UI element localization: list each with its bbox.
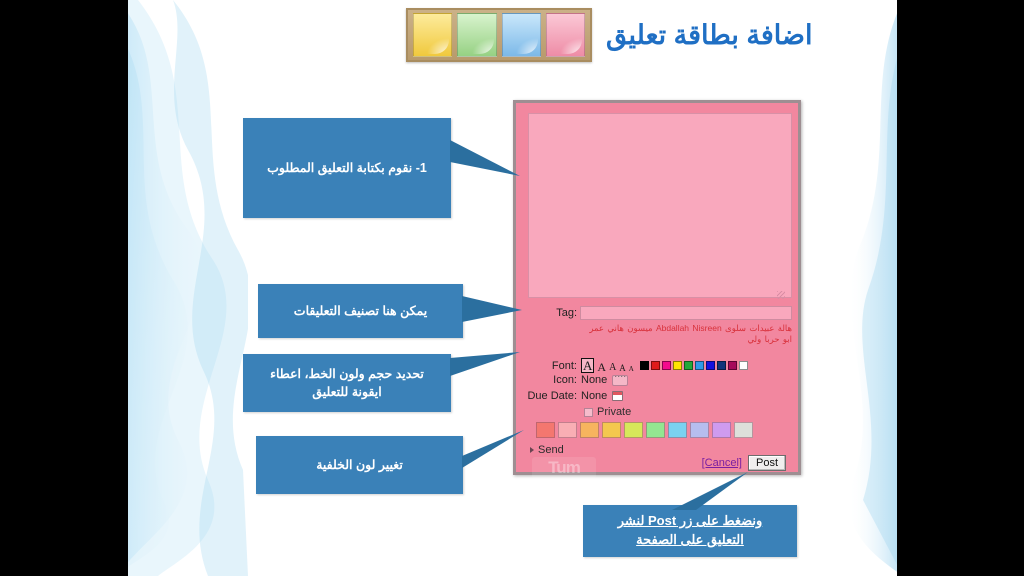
- font-label: Font:: [520, 360, 580, 372]
- presentation-slide: اضافة بطاقة تعليق Tag: هالة عبيدات سلوى …: [128, 0, 897, 576]
- sticky-note-green: [457, 13, 496, 57]
- private-label: Private: [597, 406, 631, 418]
- callout-tail-1: [450, 140, 520, 180]
- sticky-notes-graphic: [406, 8, 592, 62]
- comment-card-body: Tag: هالة عبيدات سلوى Abdallah Nisreen م…: [520, 107, 794, 468]
- font-color-swatch[interactable]: [651, 361, 660, 370]
- font-color-swatch[interactable]: [640, 361, 649, 370]
- post-button[interactable]: Post: [748, 455, 786, 471]
- tag-input[interactable]: [580, 306, 792, 320]
- font-color-swatch[interactable]: [706, 361, 715, 370]
- sticky-note-pink: [546, 13, 585, 57]
- background-swatch[interactable]: [668, 422, 687, 438]
- chevron-right-icon: [530, 447, 534, 453]
- background-swatch[interactable]: [624, 422, 643, 438]
- background-swatch[interactable]: [602, 422, 621, 438]
- font-color-swatch[interactable]: [695, 361, 704, 370]
- cancel-link[interactable]: [Cancel]: [702, 457, 742, 469]
- callout-tail-2: [462, 296, 522, 328]
- icon-label: Icon:: [520, 374, 580, 386]
- callout-tail-4: [462, 430, 524, 468]
- background-swatch[interactable]: [580, 422, 599, 438]
- callout-tail-5: [658, 472, 748, 510]
- due-date-label: Due Date:: [520, 390, 580, 402]
- sticky-note-blue: [502, 13, 541, 57]
- background-swatch[interactable]: [734, 422, 753, 438]
- send-label: Send: [538, 444, 564, 456]
- send-expander[interactable]: Send: [530, 444, 564, 456]
- font-row: Font: A A A A A: [520, 358, 800, 373]
- font-color-swatch[interactable]: [728, 361, 737, 370]
- sticky-note-yellow: [413, 13, 452, 57]
- callout-text: 1- نقوم بكتابة التعليق المطلوب: [267, 159, 427, 177]
- callout-write-comment: 1- نقوم بكتابة التعليق المطلوب: [243, 118, 451, 218]
- background-color-palette: [536, 422, 753, 438]
- background-swatch[interactable]: [646, 422, 665, 438]
- font-size-option-2[interactable]: A: [597, 361, 606, 373]
- callout-tail-3: [450, 352, 520, 384]
- font-color-swatch[interactable]: [684, 361, 693, 370]
- private-row: Private: [520, 406, 800, 418]
- callout-font-icon: تحديد حجم ولون الخط، اعطاء ايقونة للتعلي…: [243, 354, 451, 412]
- font-color-swatch[interactable]: [717, 361, 726, 370]
- callout-text-line2: التعليق على الصفحة: [618, 531, 763, 550]
- font-size-option-1[interactable]: A: [581, 358, 594, 373]
- watermark-logo: Tum: [532, 457, 596, 479]
- callout-text-line1: ونضغط على زر Post لنشر: [618, 512, 763, 531]
- callout-post-button: ونضغط على زر Post لنشر التعليق على الصفح…: [583, 505, 797, 557]
- tag-label: Tag:: [520, 307, 580, 319]
- background-swatch[interactable]: [558, 422, 577, 438]
- background-swatch[interactable]: [536, 422, 555, 438]
- slide-header: اضافة بطاقة تعليق: [128, 0, 897, 80]
- callout-text-line1: تحديد حجم ولون الخط، اعطاء: [270, 365, 424, 383]
- callout-tag-comments: يمكن هنا تصنيف التعليقات: [258, 284, 463, 338]
- calendar-icon[interactable]: [612, 391, 623, 401]
- private-checkbox[interactable]: [584, 408, 593, 417]
- callout-text: تغيير لون الخلفية: [316, 456, 403, 474]
- font-size-option-5[interactable]: A: [629, 366, 634, 373]
- font-color-swatch[interactable]: [662, 361, 671, 370]
- background-swatch[interactable]: [712, 422, 731, 438]
- due-date-value[interactable]: None: [581, 390, 607, 402]
- tag-row: Tag:: [520, 306, 800, 320]
- dots-icon[interactable]: [612, 375, 628, 386]
- background-swatch[interactable]: [690, 422, 709, 438]
- font-color-swatch[interactable]: [739, 361, 748, 370]
- page-title: اضافة بطاقة تعليق: [606, 10, 888, 60]
- screenshot-root: اضافة بطاقة تعليق Tag: هالة عبيدات سلوى …: [0, 0, 1024, 576]
- callout-text: يمكن هنا تصنيف التعليقات: [294, 302, 427, 320]
- decorative-wave-left: [128, 0, 248, 576]
- tag-suggestions[interactable]: هالة عبيدات سلوى Abdallah Nisreen ميسون …: [578, 323, 792, 346]
- note-actions: [Cancel] Post: [702, 455, 786, 471]
- comment-card: Tag: هالة عبيدات سلوى Abdallah Nisreen م…: [513, 100, 801, 475]
- callout-text-line2: ايقونة للتعليق: [270, 383, 424, 401]
- icon-row: Icon: None: [520, 374, 800, 386]
- decorative-wave-right: [843, 0, 897, 576]
- due-date-row: Due Date: None: [520, 390, 800, 402]
- font-color-swatches: [640, 361, 748, 370]
- callout-background-color: تغيير لون الخلفية: [256, 436, 463, 494]
- icon-value[interactable]: None: [581, 374, 607, 386]
- comment-textarea[interactable]: [528, 113, 792, 298]
- font-color-swatch[interactable]: [673, 361, 682, 370]
